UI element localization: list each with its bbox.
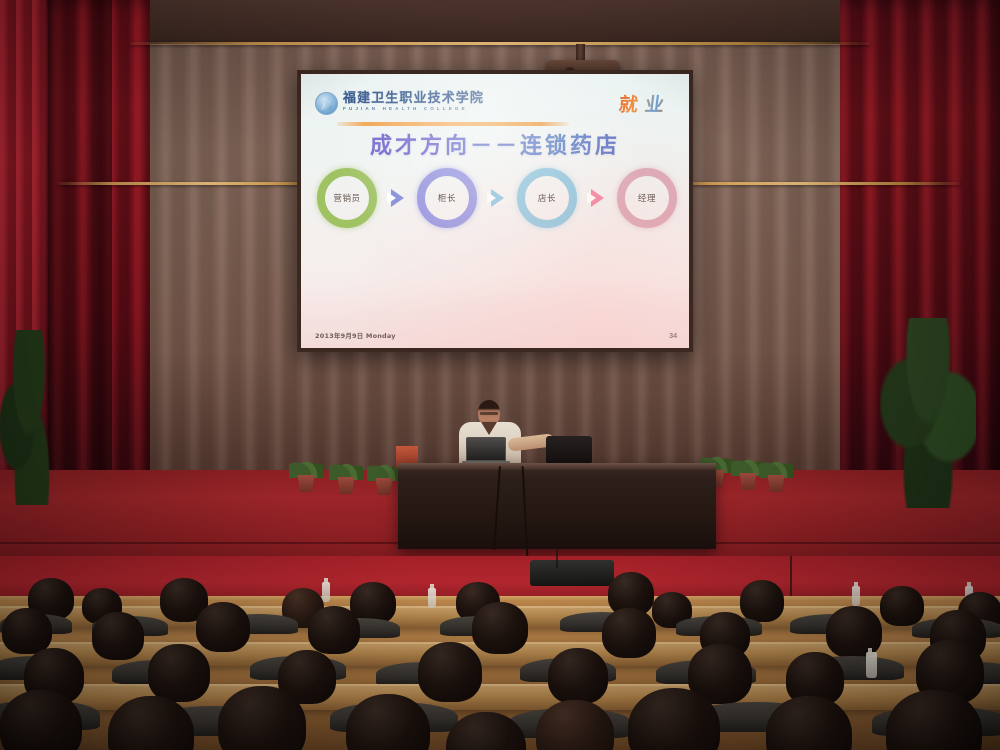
slide-header: 福建卫生职业技术学院 FUJIAN HEALTH COLLEGE 就业	[315, 86, 677, 120]
large-stage-plant	[880, 318, 976, 508]
plant-pot	[374, 478, 394, 495]
audience-head	[740, 580, 784, 622]
flow-node-4: 经理	[617, 168, 677, 228]
plant-pot	[296, 475, 316, 492]
potted-plant	[766, 460, 786, 492]
plant-leaves-icon	[329, 454, 363, 480]
audience-head	[196, 602, 250, 652]
audience-head	[2, 608, 52, 654]
confidence-monitor	[546, 436, 592, 464]
college-name-cn: 福建卫生职业技术学院	[343, 92, 484, 105]
curtain-rail-top	[130, 42, 870, 45]
plant-pot	[738, 473, 758, 490]
audience-head	[92, 612, 144, 660]
employment-mark: 就业	[617, 90, 678, 117]
slide-page-number: 34	[669, 333, 677, 340]
plant-leaves-icon	[289, 452, 323, 478]
college-brand: 福建卫生职业技术学院 FUJIAN HEALTH COLLEGE	[315, 92, 484, 115]
flow-node-3: 店长	[517, 168, 577, 228]
left-curtain-fold	[48, 0, 112, 520]
college-crest-icon	[315, 92, 338, 115]
av-equipment-box	[530, 560, 614, 586]
audience-head	[148, 644, 210, 702]
potted-plant	[374, 463, 394, 495]
audience-head	[472, 602, 528, 654]
college-name-en: FUJIAN HEALTH COLLEGE	[343, 107, 484, 112]
auditorium-photo: 福建卫生职业技术学院 FUJIAN HEALTH COLLEGE 就业 成才方向…	[0, 0, 1000, 750]
presenter-glasses-icon	[480, 412, 498, 415]
audience-head	[880, 586, 924, 626]
flow-arrow-3-icon	[591, 189, 604, 207]
flow-node-3-label: 店长	[538, 192, 556, 204]
projected-slide: 福建卫生职业技术学院 FUJIAN HEALTH COLLEGE 就业 成才方向…	[301, 74, 689, 348]
mic-stand	[556, 548, 558, 568]
water-bottle	[428, 588, 436, 608]
curtain-pelmet	[130, 0, 875, 44]
slide-date: 2013年9月9日 Monday	[315, 330, 396, 340]
water-bottle	[322, 582, 330, 602]
plant-leaves-icon	[759, 452, 793, 478]
audience-head	[0, 690, 82, 750]
slide-footer: 2013年9月9日 Monday 34	[315, 330, 677, 340]
plant-pot	[766, 475, 786, 492]
audience-head	[218, 686, 306, 750]
mic-stand	[790, 556, 792, 600]
presenter-desk	[398, 463, 716, 549]
career-path-flow: 营销员 柜长 店长 经理	[317, 166, 677, 230]
college-name-block: 福建卫生职业技术学院 FUJIAN HEALTH COLLEGE	[343, 92, 484, 112]
left-stage-plant	[0, 330, 56, 505]
flow-node-4-label: 经理	[638, 192, 656, 204]
flow-arrow-1-icon	[391, 189, 404, 207]
water-bottle	[866, 652, 877, 678]
projection-screen-frame: 福建卫生职业技术学院 FUJIAN HEALTH COLLEGE 就业 成才方向…	[297, 70, 693, 352]
water-bottle	[852, 586, 860, 606]
slide-title: 成才方向－－连锁药店	[301, 128, 689, 160]
plant-pot	[336, 477, 356, 494]
flow-arrow-2-icon	[491, 189, 504, 207]
flow-node-2: 柜长	[417, 168, 477, 228]
header-divider	[337, 122, 569, 126]
flow-node-1-label: 营销员	[333, 192, 360, 204]
audience-head	[308, 606, 360, 654]
flow-node-1: 营销员	[317, 168, 377, 228]
presenter-laptop	[466, 437, 506, 461]
potted-plant	[296, 460, 316, 492]
potted-plant	[336, 462, 356, 494]
potted-plant	[738, 458, 758, 490]
audience-head	[418, 642, 482, 702]
audience-head	[602, 608, 656, 658]
flow-node-2-label: 柜长	[438, 192, 456, 204]
audience-head	[826, 606, 882, 658]
desk-surface	[398, 463, 716, 470]
audience-head	[548, 648, 608, 704]
